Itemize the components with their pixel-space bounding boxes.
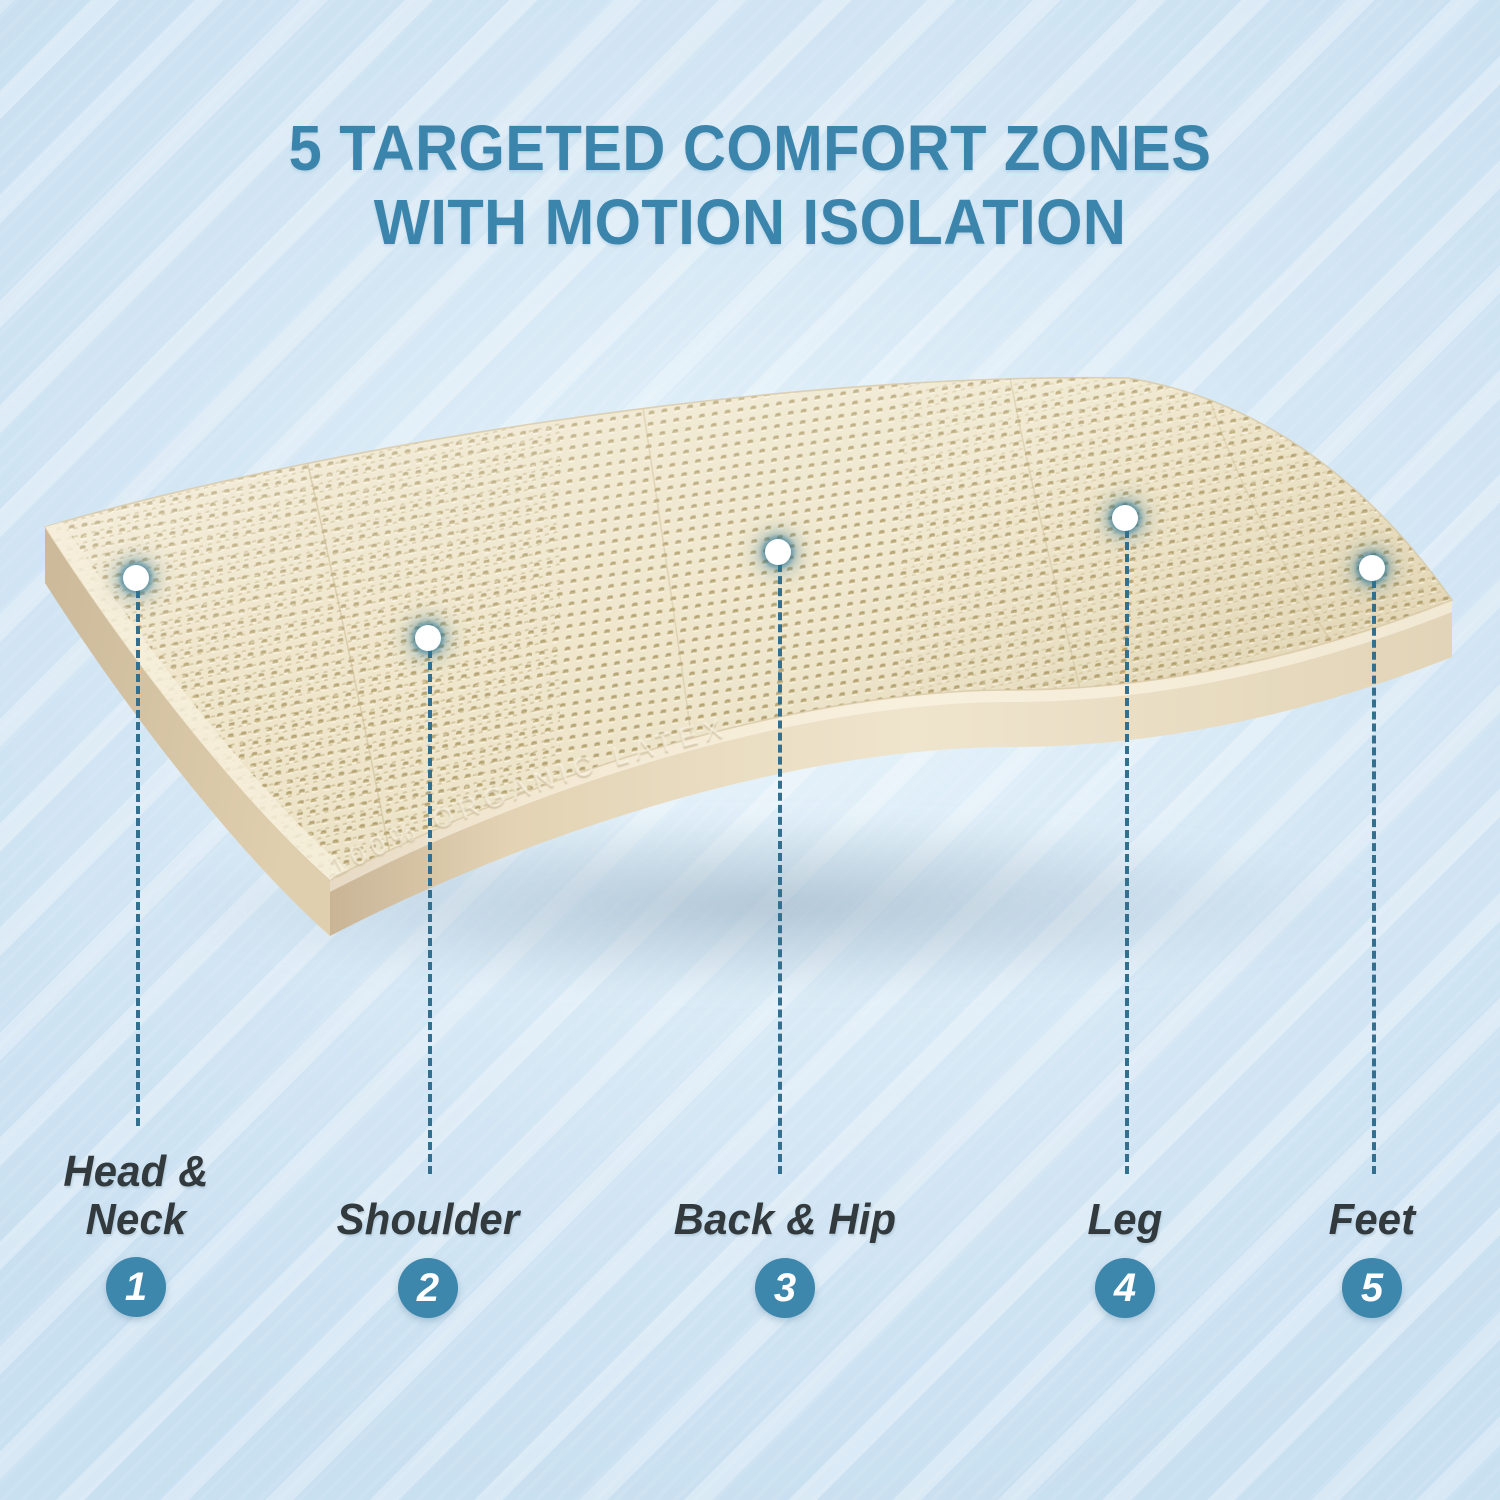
zone-number-badge-2[interactable]: 2 [398,1258,458,1318]
zone-name-2: Shoulder [286,1196,571,1244]
page-title: 5 TARGETED COMFORT ZONES WITH MOTION ISO… [53,112,1448,259]
zone-marker-1[interactable] [123,565,149,591]
leader-line-zone-5 [1372,568,1376,1174]
zone-label-group-5[interactable]: Feet5 [1222,1196,1500,1318]
leader-line-zone-2 [428,638,432,1174]
zone-label-group-1[interactable]: Head & Neck1 [0,1148,286,1317]
zone-marker-2[interactable] [415,625,441,651]
zone-label-group-3[interactable]: Back & Hip3 [635,1196,935,1318]
zone-name-3: Back & Hip [643,1196,928,1244]
zone-marker-5[interactable] [1359,555,1385,581]
zone-number-badge-5[interactable]: 5 [1342,1258,1402,1318]
infographic-canvas: 5 TARGETED COMFORT ZONES WITH MOTION ISO… [0,0,1500,1500]
zone-number-badge-3[interactable]: 3 [755,1258,815,1318]
leader-line-zone-1 [136,578,140,1126]
leader-line-zone-3 [778,552,782,1174]
leader-line-zone-4 [1125,518,1129,1174]
zone-name-1: Head & Neck [0,1148,279,1243]
zone-name-5: Feet [1230,1196,1500,1244]
zone-marker-3[interactable] [765,539,791,565]
zone-label-group-2[interactable]: Shoulder2 [278,1196,578,1318]
zone-number-badge-4[interactable]: 4 [1095,1258,1155,1318]
zone-marker-4[interactable] [1112,505,1138,531]
zone-number-badge-1[interactable]: 1 [106,1257,166,1317]
